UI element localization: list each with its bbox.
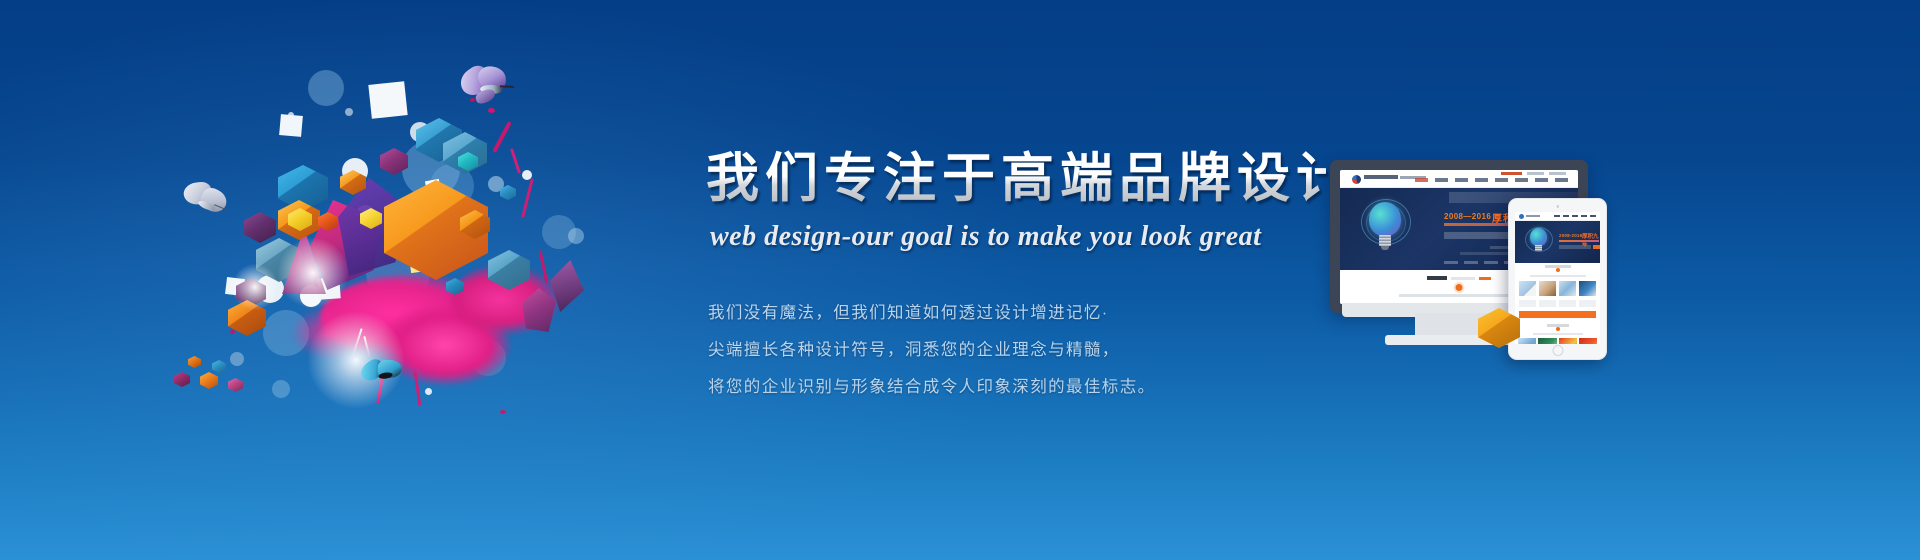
site-header: [1340, 170, 1578, 188]
bokeh-circle: [568, 228, 584, 244]
subtitle: web design-our goal is to make you look …: [710, 221, 1326, 253]
mobile-case-thumbnails: [1515, 335, 1600, 344]
bokeh-circle: [425, 388, 432, 395]
bulb-glass: [1369, 202, 1401, 236]
thumbnail[interactable]: [1579, 281, 1596, 296]
caption: [1579, 300, 1596, 307]
site-nav-item: [1455, 178, 1468, 182]
mobile-logo-text: [1526, 215, 1540, 217]
hero-carousel-dots[interactable]: [1444, 261, 1518, 264]
section-bullet: [1456, 284, 1463, 291]
lightbulb-icon: [1361, 202, 1409, 260]
hero-year-range: 2008—2016: [1444, 212, 1491, 221]
thumbnail[interactable]: [1559, 281, 1576, 296]
thumbnail[interactable]: [1559, 338, 1577, 344]
carousel-dot[interactable]: [1444, 261, 1458, 264]
mobile-nav-item: [1590, 215, 1596, 217]
bulb-base: [1379, 235, 1391, 246]
mobile-section-title-2: [1515, 322, 1600, 331]
mobile-hero-cta[interactable]: [1593, 245, 1600, 249]
caption: [1559, 300, 1576, 307]
cube-face: [1478, 308, 1520, 348]
tablet-camera: [1556, 205, 1559, 208]
description-line-1: 我们没有魔法，但我们知道如何透过设计增进记忆·: [708, 299, 1326, 323]
abstract-artwork: [170, 60, 650, 480]
white-square: [279, 114, 303, 137]
thumbnail[interactable]: [1538, 338, 1556, 344]
orange-cube-small: [188, 356, 201, 368]
hero-banner: 我们专注于高端品牌设计 web design-our goal is to ma…: [0, 0, 1920, 560]
thumbnail[interactable]: [1518, 338, 1536, 344]
mobile-nav-item: [1563, 215, 1569, 217]
orange-cube-small: [200, 372, 218, 389]
description-line-2: 尖端擅长各种设计符号，洞悉您的企业理念与精髓，: [708, 336, 1326, 360]
paint-streak: [521, 178, 534, 218]
device-mockup: 2008—2016 厚积九年: [1330, 160, 1660, 390]
mobile-logo-icon: [1519, 214, 1524, 219]
caption: [1539, 300, 1556, 307]
paint-dot: [230, 330, 235, 334]
mobile-site-header: [1515, 212, 1600, 221]
section-title: [1427, 276, 1491, 280]
mobile-nav-item: [1581, 215, 1587, 217]
mobile-nav: [1554, 215, 1596, 217]
site-nav-item: [1535, 178, 1548, 182]
carousel-dot[interactable]: [1484, 261, 1498, 264]
orange-cube-accent: [1478, 308, 1520, 356]
mobile-hero-description: [1559, 245, 1591, 249]
description-line-3: 将您的企业识别与形象结合成令人印象深刻的最佳标志。: [708, 373, 1326, 397]
site-nav-item: [1515, 178, 1528, 182]
mobile-lightbulb-icon: [1525, 228, 1551, 258]
bulb-glass: [1530, 228, 1547, 246]
thumbnail[interactable]: [1539, 281, 1556, 296]
site-topbar: [1501, 172, 1566, 175]
paint-streak: [510, 148, 521, 174]
purple-cube: [244, 212, 276, 243]
mobile-thumbnail-captions: [1515, 300, 1600, 307]
site-logo-icon: [1352, 175, 1361, 184]
blue-cube-small: [212, 360, 226, 373]
bokeh-circle: [345, 108, 353, 116]
bulb-tip: [1381, 246, 1389, 250]
banner-copy: 我们专注于高端品牌设计 web design-our goal is to ma…: [706, 150, 1326, 410]
paint-streak: [492, 121, 511, 153]
magenta-cube-small: [174, 372, 190, 387]
bokeh-circle: [230, 352, 244, 366]
butterfly-purple: [454, 61, 518, 118]
site-nav-item: [1415, 178, 1428, 182]
bulb-base: [1535, 245, 1542, 251]
bokeh-circle: [308, 70, 344, 106]
pink-cube-small: [228, 378, 243, 392]
site-nav-item: [1495, 178, 1508, 182]
mobile-hero-subline: [1559, 240, 1599, 242]
caption: [1519, 300, 1536, 307]
section-paragraph: [1399, 294, 1519, 297]
site-nav: [1415, 178, 1568, 182]
tablet-screen: 2008-2016 厚积九年: [1515, 212, 1600, 344]
mobile-section-title: [1515, 263, 1600, 271]
site-nav-item: [1475, 178, 1488, 182]
carousel-dot[interactable]: [1464, 261, 1478, 264]
site-nav-item: [1435, 178, 1448, 182]
page-title: 我们专注于高端品牌设计: [706, 150, 1326, 207]
butterfly-body: [378, 372, 393, 380]
butterfly-silver: [177, 178, 236, 230]
site-logo-text: [1364, 175, 1398, 179]
tablet-home-button[interactable]: [1552, 345, 1563, 356]
paint-dot: [500, 410, 506, 414]
site-nav-item: [1555, 178, 1568, 182]
bokeh-circle: [272, 380, 290, 398]
light-glow: [278, 238, 348, 308]
mobile-thumbnails: [1515, 277, 1600, 300]
thumbnail[interactable]: [1519, 281, 1536, 296]
mobile-nav-item: [1572, 215, 1578, 217]
tablet-device: 2008-2016 厚积九年: [1508, 198, 1607, 360]
mobile-nav-item: [1554, 215, 1560, 217]
mobile-orange-banner[interactable]: [1519, 311, 1596, 318]
light-glow: [232, 264, 278, 310]
description-paragraph: 我们没有魔法，但我们知道如何透过设计增进记忆· 尖端擅长各种设计符号，洞悉您的企…: [708, 299, 1326, 397]
mobile-hero-year: 2008-2016: [1559, 233, 1582, 238]
mobile-hero: 2008-2016 厚积九年: [1515, 221, 1600, 263]
thumbnail[interactable]: [1579, 338, 1597, 344]
white-square: [368, 81, 407, 119]
